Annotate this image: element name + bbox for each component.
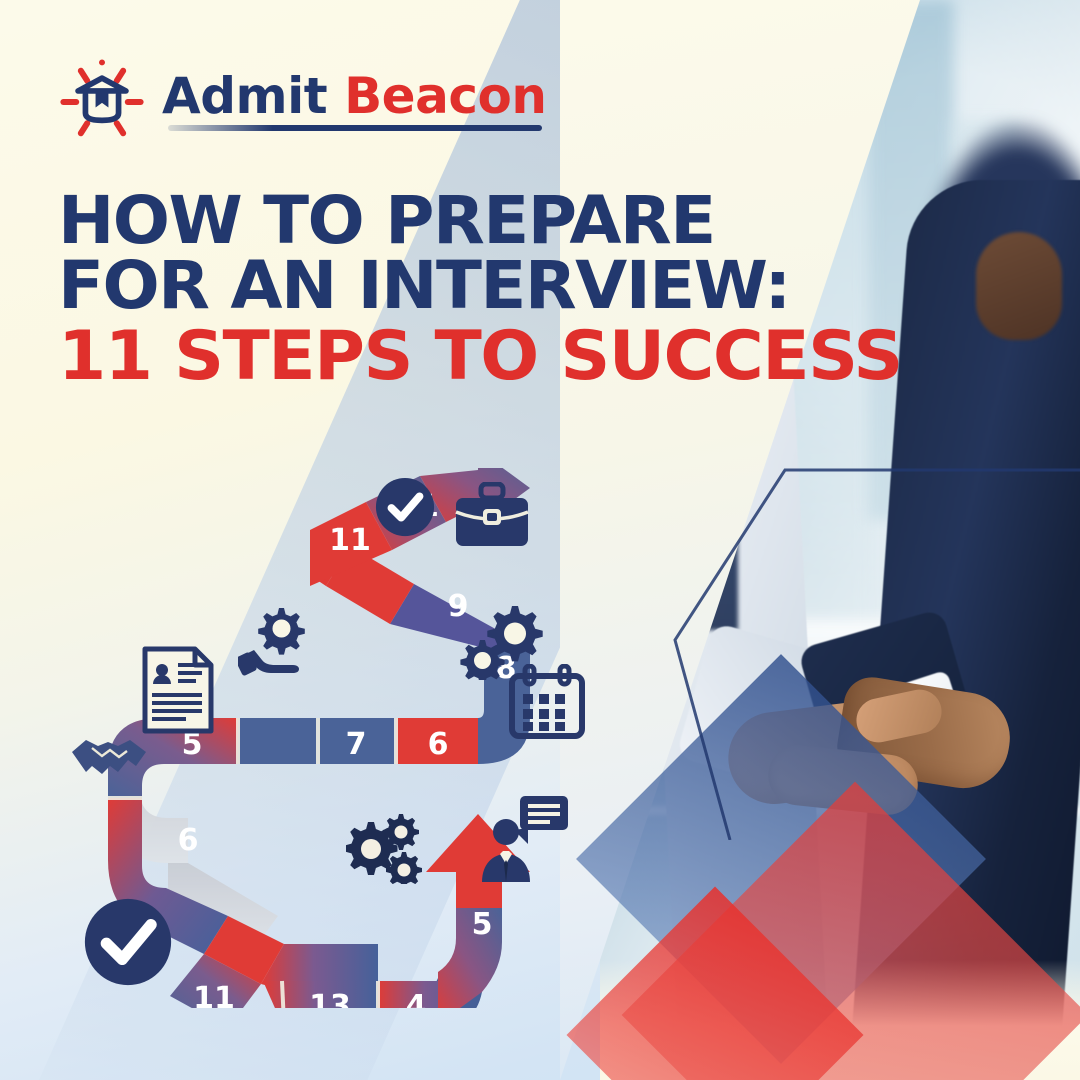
calendar-icon <box>508 664 586 740</box>
steps-roadmap-infographic: 11 11 9 8 5 7 6 5 6 4 13 11 <box>78 468 608 1008</box>
hand-holding-gear-icon <box>238 604 320 678</box>
brand-name-admit: Admit <box>162 67 327 125</box>
person-speech-bubble-icon <box>478 794 570 884</box>
check-circle-icon <box>374 476 436 538</box>
handshake-icon <box>70 726 152 780</box>
graduation-cap-beacon-icon <box>56 56 148 148</box>
step-label-11c: 11 <box>193 981 235 1008</box>
brand-name-beacon: Beacon <box>344 67 546 125</box>
page-title: HOW TO PREPARE FOR AN INTERVIEW: 11 STEP… <box>58 188 878 390</box>
step-label-6a: 6 <box>428 727 449 762</box>
step-label-11b: 11 <box>329 523 371 558</box>
headline-line-1: HOW TO PREPARE <box>58 188 894 253</box>
brand-logo[interactable]: Admit Beacon <box>56 56 546 148</box>
step-label-13: 13 <box>309 989 351 1008</box>
brand-wordmark: Admit Beacon <box>162 71 546 133</box>
person-right-head <box>976 232 1062 340</box>
brand-underline <box>168 125 542 131</box>
poster-canvas: Admit Beacon HOW TO PREPARE FOR AN INTER… <box>0 0 1080 1080</box>
headline-line-3: 11 STEPS TO SUCCESS <box>58 323 894 390</box>
step-label-5b: 5 <box>472 907 493 942</box>
step-label-7: 7 <box>346 727 367 762</box>
headline-line-2: FOR AN INTERVIEW: <box>58 253 894 318</box>
resume-document-icon <box>140 646 214 734</box>
step-label-6b: 6 <box>178 823 199 858</box>
step-label-4: 4 <box>406 989 427 1008</box>
briefcase-icon <box>454 482 530 548</box>
gears-cluster-icon <box>346 812 428 884</box>
check-circle-icon <box>82 896 174 988</box>
